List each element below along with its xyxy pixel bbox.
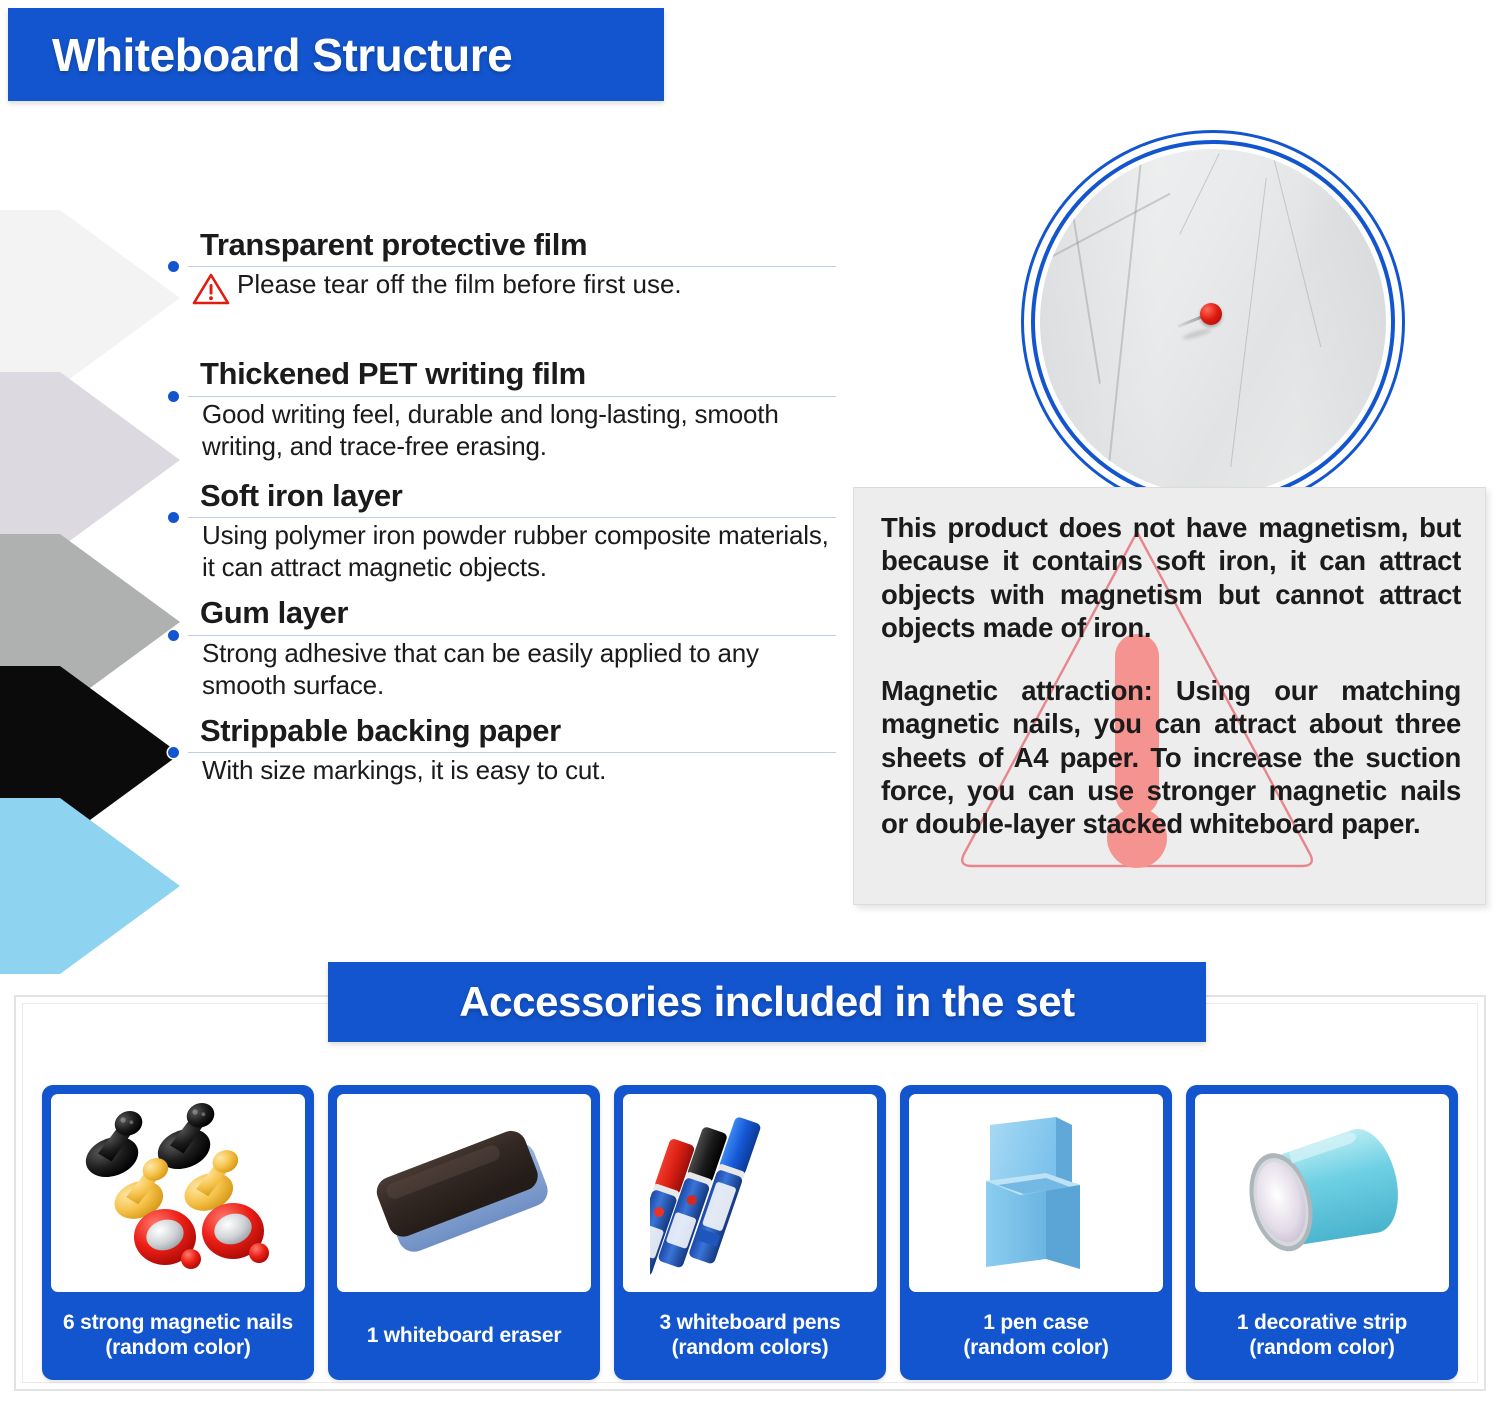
magnetism-info-text: This product does not have magnetism, bu… [854, 488, 1485, 840]
accessory-caption: 3 whiteboard pens (random colors) [623, 1292, 877, 1380]
sheet-shading-right [1296, 149, 1386, 495]
red-magnetic-pin-icon [1178, 301, 1238, 341]
accessory-card-pen-case[interactable]: 1 pen case (random color) [900, 1085, 1172, 1380]
layer-title: Gum layer [168, 596, 836, 629]
layer-title: Thickened PET writing film [168, 357, 836, 390]
accessory-card-whiteboard-pens[interactable]: 3 whiteboard pens (random colors) [614, 1085, 886, 1380]
layer-description: Good writing feel, durable and long-last… [168, 399, 836, 463]
layer-description: Strong adhesive that can be easily appli… [168, 638, 836, 702]
whiteboard-eraser-icon [354, 1113, 574, 1273]
layer-rule [188, 396, 836, 397]
layer-warning-row: Please tear off the film before first us… [168, 269, 836, 311]
accessory-card-magnetic-nails[interactable]: 6 strong magnetic nails (random color) [42, 1085, 314, 1380]
whiteboard-sheet-photo [1040, 149, 1386, 495]
layer-item-gum-layer: Gum layer Strong adhesive that can be ea… [168, 596, 836, 701]
accessories-grid: 6 strong magnetic nails (random color) [42, 1085, 1458, 1380]
layer-rule [188, 635, 836, 636]
info-paragraph-1: This product does not have magnetism, bu… [881, 511, 1461, 644]
accessory-caption: 1 decorative strip (random color) [1195, 1292, 1449, 1380]
accessory-caption: 6 strong magnetic nails (random color) [51, 1292, 305, 1380]
layer-item-strippable-backing-paper: Strippable backing paper With size marki… [168, 714, 836, 787]
layer-rule [188, 752, 836, 753]
accessory-photo [623, 1094, 877, 1292]
layer-description: Using polymer iron powder rubber composi… [168, 520, 836, 584]
info-paragraph-2: Magnetic attraction: Using our matching … [881, 674, 1461, 840]
accessory-photo [337, 1094, 591, 1292]
layer-item-thickened-pet-writing-film: Thickened PET writing film Good writing … [168, 357, 836, 462]
pin-shadow [1182, 327, 1212, 341]
layer-description-list: Transparent protective film Please tear … [168, 228, 836, 787]
accessory-card-decorative-strip[interactable]: 1 decorative strip (random color) [1186, 1085, 1458, 1380]
sheet-crease [1179, 153, 1220, 234]
magnetism-info-panel: This product does not have magnetism, bu… [853, 487, 1486, 905]
layer-rule [188, 517, 836, 518]
accessory-photo [51, 1094, 305, 1292]
whiteboard-pens-icon [650, 1103, 850, 1283]
page-title: Whiteboard Structure [52, 28, 512, 82]
magnetic-nails-icon [63, 1103, 293, 1283]
layer-connector-dot [168, 630, 179, 641]
accessories-title: Accessories included in the set [459, 978, 1075, 1026]
pin-head [1200, 303, 1222, 325]
warning-triangle-icon [192, 272, 230, 311]
magnifier-circle [1031, 140, 1395, 504]
accessories-title-banner: Accessories included in the set [328, 962, 1206, 1042]
accessory-card-whiteboard-eraser[interactable]: 1 whiteboard eraser [328, 1085, 600, 1380]
layer-item-soft-iron-layer: Soft iron layer Using polymer iron powde… [168, 479, 836, 584]
page-title-banner: Whiteboard Structure [8, 8, 664, 101]
layer-connector-dot [168, 391, 179, 402]
layer-title: Soft iron layer [168, 479, 836, 512]
layer-item-transparent-protective-film: Transparent protective film Please tear … [168, 228, 836, 311]
accessory-caption: 1 whiteboard eraser [337, 1292, 591, 1380]
layer-title: Transparent protective film [168, 228, 836, 261]
accessory-photo [909, 1094, 1163, 1292]
decorative-strip-icon [1222, 1111, 1422, 1276]
layer-description: With size markings, it is easy to cut. [168, 755, 836, 787]
accessory-caption: 1 pen case (random color) [909, 1292, 1163, 1380]
sheet-shading-left [1040, 149, 1158, 495]
accessory-photo [1195, 1094, 1449, 1292]
pen-case-icon [946, 1103, 1126, 1283]
layer-warning-text: Please tear off the film before first us… [237, 269, 682, 300]
wedge-strippable-backing-paper [0, 788, 180, 984]
layer-rule [188, 266, 836, 267]
layer-title: Strippable backing paper [168, 714, 836, 747]
